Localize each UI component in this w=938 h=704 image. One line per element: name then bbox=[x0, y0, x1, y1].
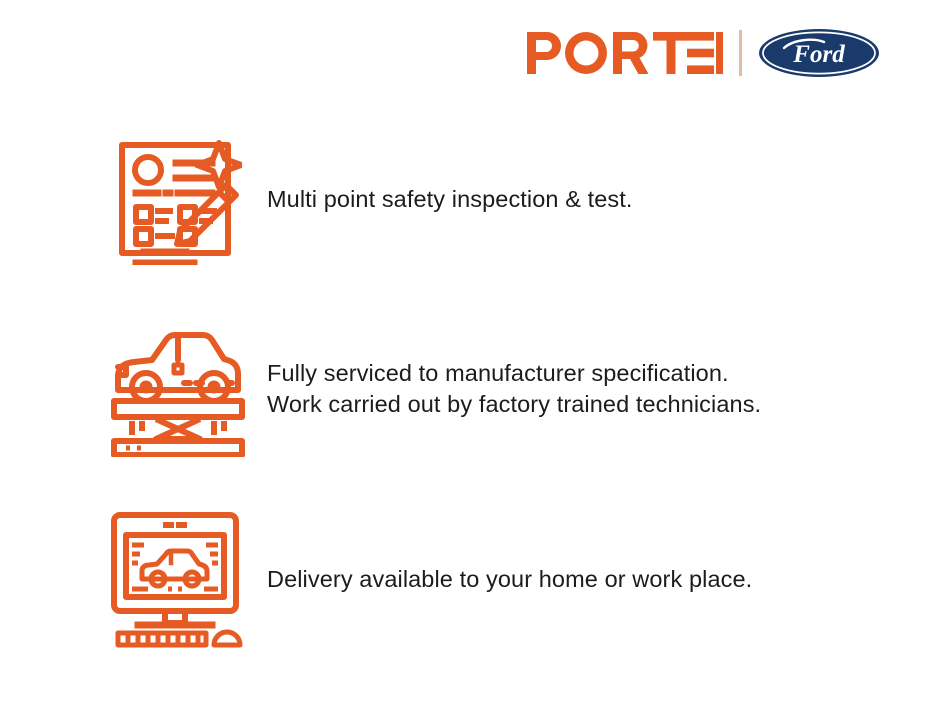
ford-wordmark-text: Ford bbox=[792, 41, 845, 68]
feature-label-inspection: Multi point safety inspection & test. bbox=[267, 184, 633, 215]
feature-label-servicing: Fully serviced to manufacturer specifica… bbox=[267, 358, 761, 420]
porter-wordmark-icon bbox=[527, 32, 723, 74]
feature-label-delivery: Delivery available to your home or work … bbox=[267, 564, 752, 595]
feature-item-servicing: Fully serviced to manufacturer specifica… bbox=[104, 294, 898, 484]
brand-divider bbox=[739, 30, 742, 76]
computer-car-delivery-icon bbox=[104, 509, 252, 649]
car-on-lift-icon bbox=[104, 321, 252, 457]
feature-item-delivery: Delivery available to your home or work … bbox=[104, 484, 898, 674]
brand-header: Ford bbox=[527, 24, 880, 82]
feature-item-inspection: Multi point safety inspection & test. bbox=[104, 104, 898, 294]
porter-logo bbox=[527, 32, 723, 74]
checklist-clipboard-pencil-icon bbox=[104, 133, 252, 265]
ford-logo-icon: Ford bbox=[758, 28, 880, 78]
feature-list: Multi point safety inspection & test. bbox=[104, 104, 898, 674]
